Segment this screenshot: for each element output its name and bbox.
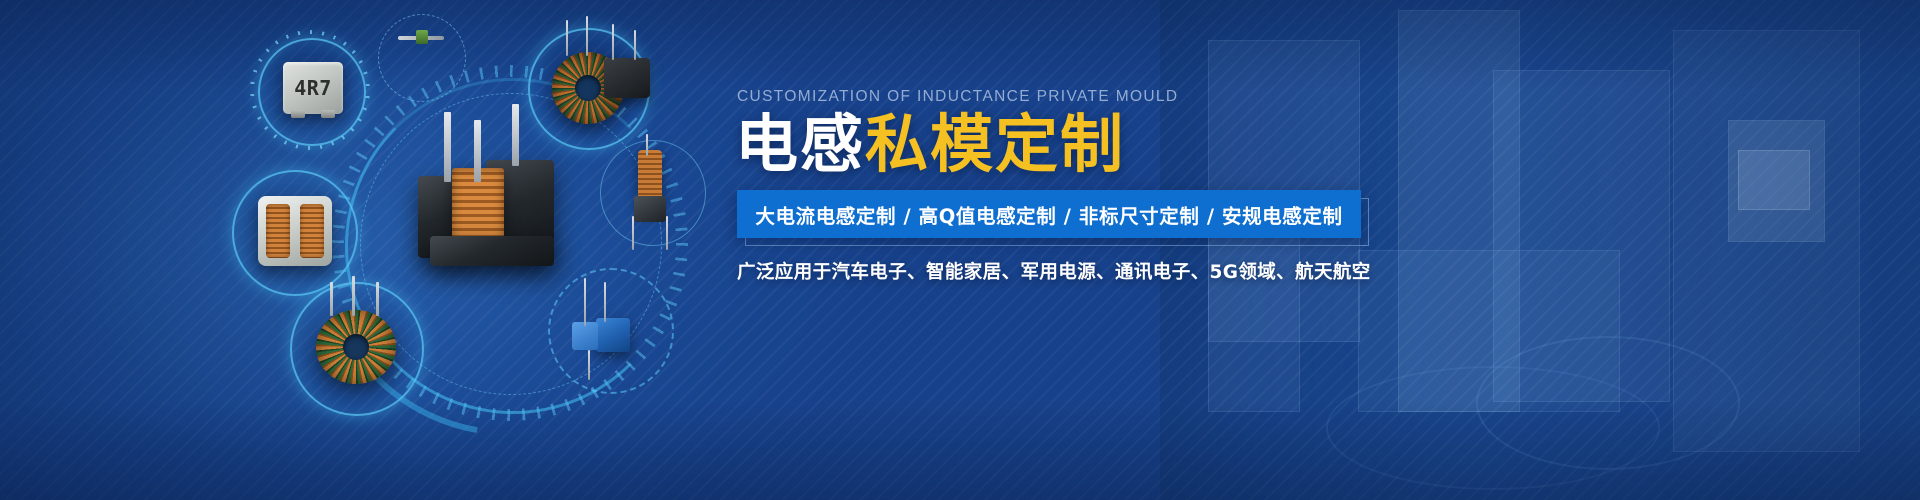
component-lead xyxy=(330,282,333,316)
accent-ring xyxy=(378,14,466,102)
component-lead xyxy=(666,216,668,250)
component-lead xyxy=(586,16,588,56)
banner-content: CUSTOMIZATION OF INDUCTANCE PRIVATE MOUL… xyxy=(735,0,1435,500)
module-terminal xyxy=(474,120,481,182)
component-lead xyxy=(566,20,568,56)
application-subtitle: 广泛应用于汽车电子、智能家居、军用电源、通讯电子、5G领域、航天航空 xyxy=(737,258,1371,284)
green-toroid-inductor xyxy=(316,310,396,384)
module-terminal xyxy=(444,112,451,182)
headline-accent: 私模定制 xyxy=(865,108,1125,181)
module-base xyxy=(430,236,554,266)
dual-copper-coil-choke xyxy=(258,196,332,266)
product-cluster: 4R7 xyxy=(0,0,760,500)
chip-pad xyxy=(321,110,335,118)
component-lead xyxy=(376,282,379,316)
english-tagline: CUSTOMIZATION OF INDUCTANCE PRIVATE MOUL… xyxy=(737,88,1178,106)
module-terminal xyxy=(512,104,519,166)
component-lead xyxy=(588,350,590,380)
component-lead xyxy=(632,216,634,250)
chip-label: 4R7 xyxy=(294,76,332,100)
copper-coil xyxy=(266,204,290,258)
copper-coil xyxy=(300,204,324,258)
choke-body xyxy=(634,196,666,222)
feature-bar[interactable]: 大电流电感定制 / 高Q值电感定制 / 非标尺寸定制 / 安规电感定制 xyxy=(737,190,1361,238)
blue-radial-inductor-body xyxy=(572,322,598,350)
component-lead xyxy=(612,24,614,60)
page-title: 电感私模定制 xyxy=(735,112,1125,178)
headline-primary: 电感 xyxy=(735,108,865,181)
smd-chip-inductor: 4R7 xyxy=(283,62,343,114)
small-component xyxy=(416,30,428,44)
promo-banner: 4R7 xyxy=(0,0,1920,500)
component-lead xyxy=(646,134,648,156)
component-lead xyxy=(604,282,606,322)
component-lead xyxy=(634,30,636,60)
toroid-core-block xyxy=(604,58,650,98)
chip-pad xyxy=(291,110,305,118)
feature-bar-fill[interactable]: 大电流电感定制 / 高Q值电感定制 / 非标尺寸定制 / 安规电感定制 xyxy=(737,190,1361,238)
component-lead xyxy=(584,278,586,326)
blue-radial-inductor xyxy=(596,318,630,352)
component-lead xyxy=(352,276,355,316)
feature-bar-text: 大电流电感定制 / 高Q值电感定制 / 非标尺寸定制 / 安规电感定制 xyxy=(755,200,1342,229)
